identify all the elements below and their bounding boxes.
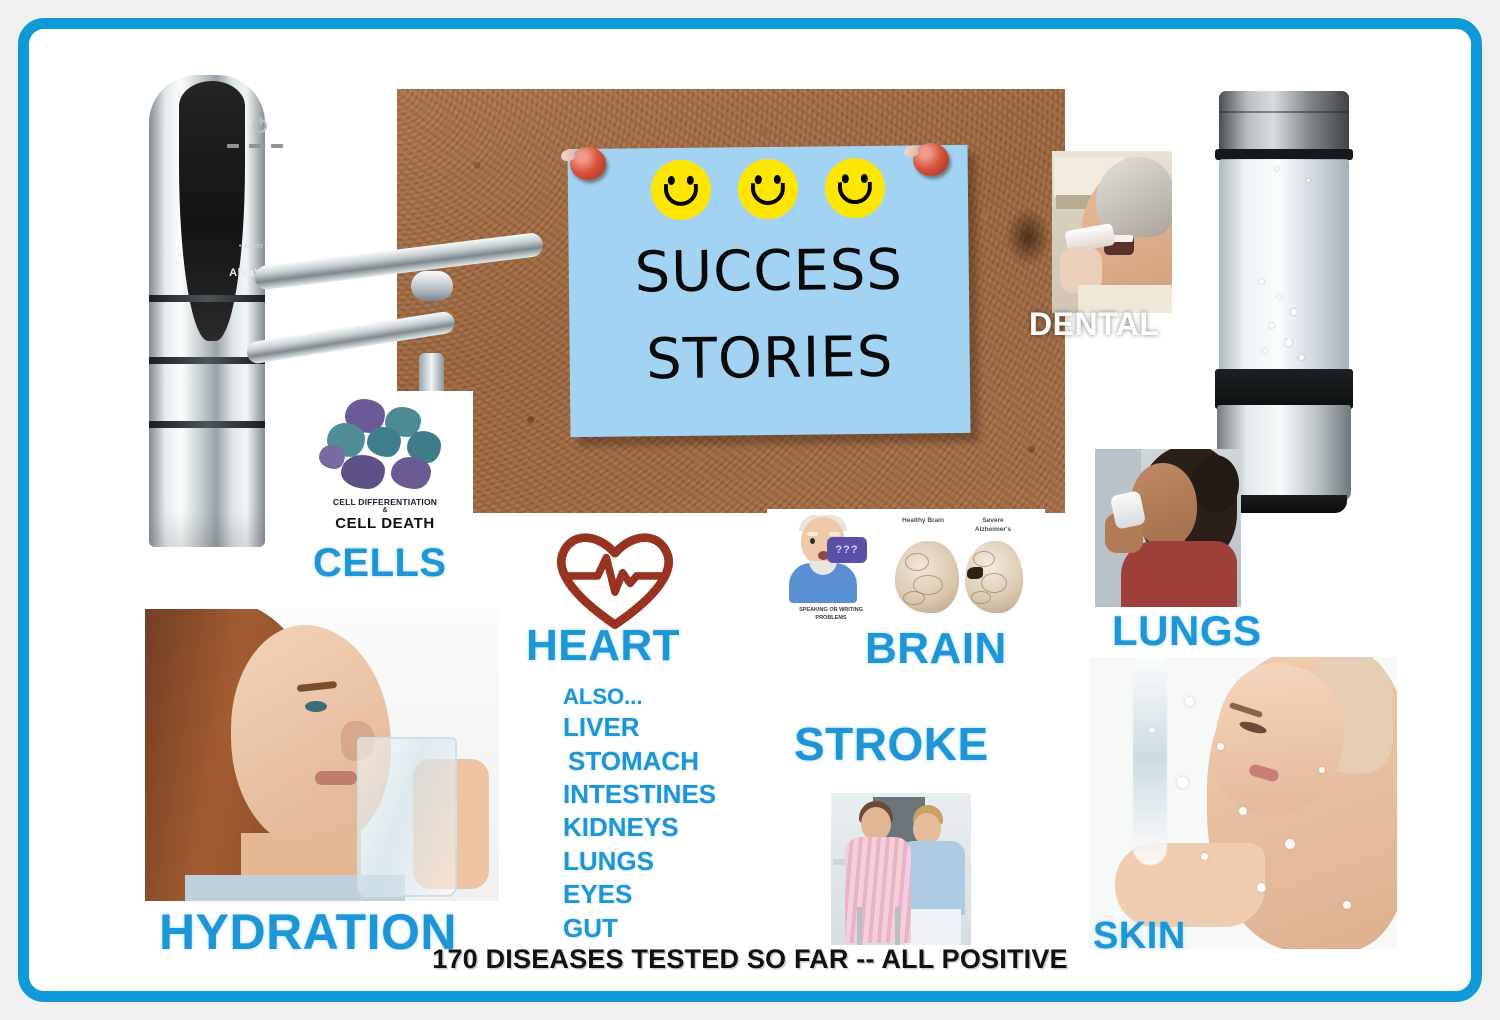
power-icon	[253, 119, 267, 133]
speech-bubble-icon: ???	[827, 537, 867, 563]
label-lungs: LUNGS	[1112, 607, 1262, 655]
note-title: SUCCESS STORIES	[568, 227, 970, 405]
also-lead: ALSO...	[563, 683, 716, 711]
also-item: EYES	[563, 878, 716, 911]
bottle-black-band	[1215, 369, 1353, 409]
smiley-face-icon	[738, 159, 799, 220]
label-cells: CELLS	[313, 541, 447, 586]
ionizer-ring	[149, 295, 265, 302]
label-stroke: STROKE	[794, 717, 989, 771]
pushpin-icon	[570, 147, 606, 180]
cell-cluster-illustration	[315, 397, 455, 499]
bottom-banner-text: 170 DISEASES TESTED SO FAR -- ALL POSITI…	[29, 944, 1471, 975]
also-item: KIDNEYS	[563, 811, 716, 844]
hydration-photo	[145, 609, 499, 901]
also-item: STOMACH	[563, 745, 716, 778]
ionizer-ring	[149, 421, 265, 428]
smiley-row	[568, 157, 969, 221]
smiley-face-icon	[825, 158, 886, 219]
also-item: LIVER	[563, 711, 716, 744]
also-organ-list: ALSO... LIVER STOMACH INTESTINES KIDNEYS…	[563, 683, 716, 945]
note-title-line1: SUCCESS	[568, 227, 969, 318]
brain-comparison-illustration: Healthy Brain Severe Alzheimer's	[895, 517, 1033, 619]
brain-healthy-label: Healthy Brain	[897, 517, 949, 526]
cells-caption-line1: CELL DIFFERENTIATION	[297, 497, 473, 507]
ionizer-filter-label: • Filter •	[225, 243, 283, 250]
brain-severe-label: Severe Alzheimer's	[967, 517, 1019, 535]
pushpin-icon	[913, 143, 949, 176]
corkboard-shadow	[1005, 207, 1051, 267]
also-item: LUNGS	[563, 845, 716, 878]
dental-photo	[1052, 151, 1172, 313]
also-item: GUT	[563, 912, 716, 945]
water-ionizer-image: • Filter • AlkaViva	[137, 57, 277, 547]
oldman-caption: SPEAKING OR WRITING PROBLEMS	[783, 607, 879, 623]
poster-canvas: SUCCESS STORIES • Filter • AlkaViva	[18, 18, 1482, 1002]
faucet-knob	[411, 271, 453, 301]
label-brain: BRAIN	[865, 624, 1007, 674]
cells-image-card: CELL DIFFERENTIATION & CELL DEATH	[297, 391, 473, 549]
cells-caption-amp: &	[297, 507, 473, 514]
success-stories-note: SUCCESS STORIES	[568, 145, 971, 437]
note-title-line2: STORIES	[569, 314, 970, 405]
label-dental: DENTAL	[1029, 306, 1159, 343]
ionizer-buttons	[227, 144, 283, 148]
smiley-face-icon	[651, 160, 712, 221]
bottle-cap	[1219, 91, 1349, 153]
cells-caption-line2: CELL DEATH	[297, 515, 473, 532]
skin-photo	[1089, 657, 1397, 949]
label-heart: HEART	[526, 621, 680, 671]
stroke-photo	[831, 793, 971, 945]
heart-icon	[545, 525, 685, 629]
elderly-person-icon: ??? SPEAKING OR WRITING PROBLEMS	[781, 515, 865, 601]
lungs-photo	[1095, 449, 1241, 607]
bottle-glass-body	[1219, 159, 1349, 371]
also-item: INTESTINES	[563, 778, 716, 811]
poster-stage: SUCCESS STORIES • Filter • AlkaViva	[29, 29, 1471, 991]
